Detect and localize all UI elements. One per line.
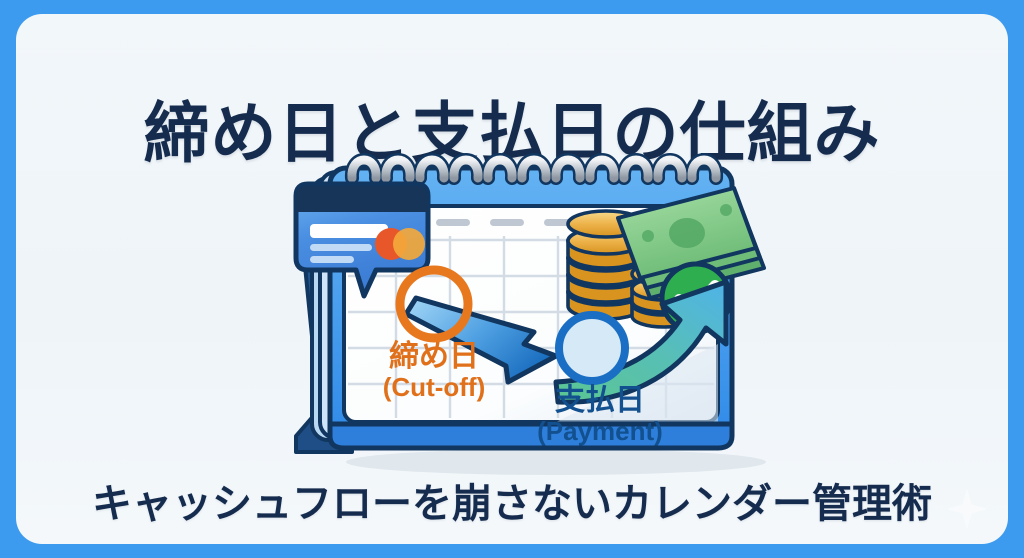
calendar-bottom-rail — [330, 424, 732, 448]
cutoff-label-ja: 締め日 — [389, 339, 479, 373]
banner-canvas: 締め日と支払日の仕組み — [0, 0, 1024, 558]
card-number-line — [310, 224, 388, 238]
content-card: 締め日と支払日の仕組み — [16, 14, 1008, 544]
page-subtitle: キャッシュフローを崩さないカレンダー管理術 — [16, 484, 1008, 524]
payment-label-en: (Payment) — [537, 416, 663, 446]
card-detail-line-1 — [310, 244, 372, 251]
payment-marker-ring — [559, 315, 625, 381]
mastercard-logo-icon — [375, 228, 425, 260]
cutoff-label: 締め日 (Cut-off) — [383, 339, 486, 402]
sparkle-icon — [944, 486, 990, 532]
card-detail-line-2 — [310, 256, 354, 263]
ground-shadow — [346, 449, 766, 475]
illustration-calendar-cutoff-payment: 締め日 (Cut-off) 支払日 (Payment) — [256, 144, 836, 484]
payment-label: 支払日 (Payment) — [537, 384, 663, 446]
cutoff-label-en: (Cut-off) — [383, 372, 486, 402]
card-magnetic-stripe — [296, 186, 428, 212]
payment-label-ja: 支払日 — [555, 384, 645, 417]
